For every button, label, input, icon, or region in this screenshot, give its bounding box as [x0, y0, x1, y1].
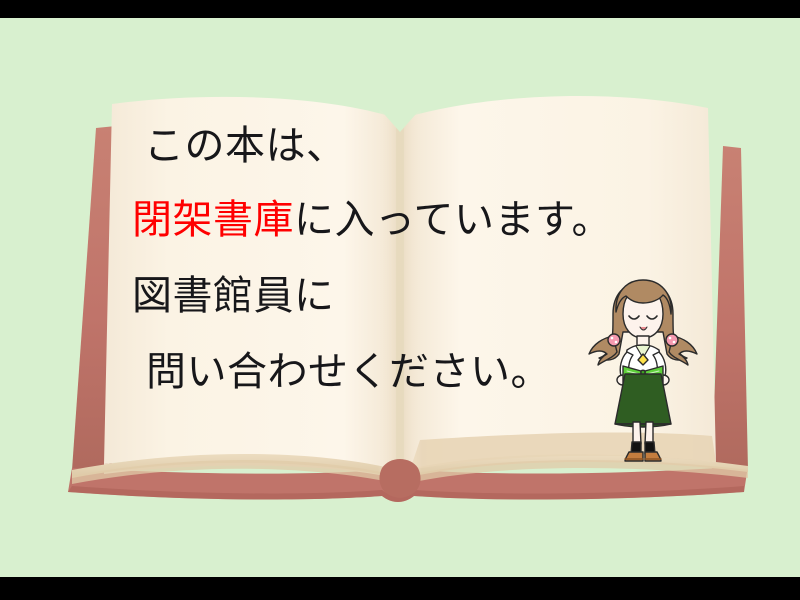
skirt-hem — [615, 424, 671, 427]
closed-stacks-emphasis: 閉架書庫 — [132, 197, 294, 243]
letterbox-bar-top — [0, 0, 800, 18]
notice-line-3: 図書館員に — [132, 276, 335, 316]
letterbox-bar-bottom — [0, 577, 800, 600]
hair-tie-left — [608, 334, 620, 346]
screenshot-canvas: この本は、 閉架書庫に入っています。 図書館員に 問い合わせください。 — [0, 0, 800, 600]
notice-line-4: 問い合わせください。 — [146, 352, 551, 392]
leg-left — [633, 422, 641, 444]
girl-reading-illustration — [583, 270, 703, 465]
leg-right — [645, 422, 653, 444]
hair-tie-right — [666, 334, 678, 346]
notice-line-2-rest: に入っています。 — [294, 197, 612, 243]
notice-line-4-text: 問い合わせください。 — [146, 349, 551, 395]
skirt — [615, 374, 671, 424]
notice-line-1-text: この本は、 — [144, 123, 347, 169]
notice-line-3-text: 図書館員に — [132, 273, 335, 319]
notice-line-1: この本は、 — [144, 126, 347, 166]
book-cover-right — [712, 146, 748, 470]
book-spine-bulge — [379, 459, 420, 498]
notice-line-2: 閉架書庫に入っています。 — [132, 200, 612, 240]
